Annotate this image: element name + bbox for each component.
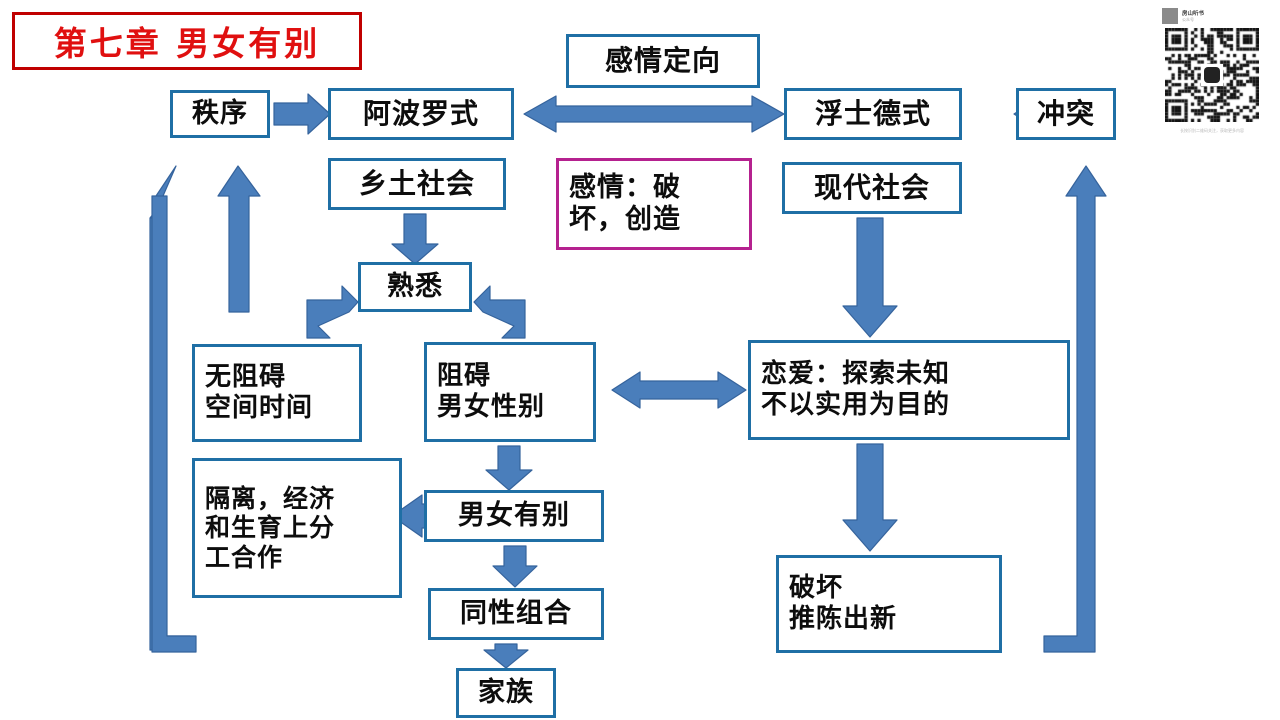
arrow-xiangtushehui-to-shuxi — [392, 214, 438, 264]
watermark-account-name: 房山听书 — [1182, 9, 1204, 17]
arrow-wuzuai-up — [218, 166, 260, 312]
node-nannv-youbie[interactable]: 男女有别 — [424, 490, 604, 542]
node-geli[interactable]: 隔离，经济 和生育上分 工合作 — [192, 458, 402, 598]
node-xiangtu-shehui[interactable]: 乡土社会 — [328, 158, 506, 210]
diagram-canvas: 第七章 男女有别 — [0, 0, 1280, 720]
node-zuai[interactable]: 阻碍 男女性别 — [424, 342, 596, 442]
arrow-zuai-to-nannvyoubie — [486, 446, 532, 490]
arrow-tongxingzuhe-to-jiazu — [484, 644, 528, 668]
arrow-zuai-to-lianai — [612, 372, 746, 408]
avatar — [1162, 8, 1178, 24]
watermark-account-sub: 公众号 — [1182, 17, 1204, 23]
arrow-nannvyoubie-to-tongxingzuhe — [493, 546, 537, 587]
node-zhixu[interactable]: 秩序 — [170, 90, 270, 138]
arrow-geli-loop-up — [150, 202, 190, 650]
arrow-shuxi-to-wuzuai — [307, 286, 358, 338]
node-xiandai-shehui[interactable]: 现代社会 — [782, 162, 962, 214]
arrow-xiandaishehui-to-lianai — [843, 218, 897, 337]
page-title: 第七章 男女有别 — [12, 12, 362, 70]
watermark-header: 房山听书 公众号 — [1152, 4, 1272, 26]
node-wuzuai[interactable]: 无阻碍 空间时间 — [192, 344, 362, 442]
node-chongtu[interactable]: 冲突 — [1016, 88, 1116, 140]
node-ganqing[interactable]: 感情：破 坏，创造 — [556, 158, 752, 250]
arrow-zhixu-to-apoluoshi — [274, 94, 330, 134]
node-shuxi[interactable]: 熟悉 — [358, 262, 472, 312]
node-ganqing-dingxiang[interactable]: 感情定向 — [566, 34, 760, 88]
node-apoluoshi[interactable]: 阿波罗式 — [328, 88, 514, 140]
node-pohuai[interactable]: 破坏 推陈出新 — [776, 555, 1002, 653]
watermark-caption: 长按识别二维码关注，获取更多内容 — [1152, 128, 1272, 134]
arrow-geli-loop-up-shape — [152, 166, 196, 652]
qr-code — [1165, 28, 1259, 122]
node-fushide-shi[interactable]: 浮士德式 — [784, 88, 962, 140]
arrow-apoluoshi-to-fushidshi — [524, 96, 784, 132]
wechat-logo-icon — [1201, 64, 1223, 86]
wechat-watermark-card: 房山听书 公众号 长按识别二维码关注，获取更多内容 — [1152, 4, 1272, 156]
arrow-lianai-to-pohuai — [843, 444, 897, 551]
node-jiazu[interactable]: 家族 — [456, 668, 556, 718]
node-tongxing-zuhe[interactable]: 同性组合 — [428, 588, 604, 640]
node-lianai[interactable]: 恋爱：探索未知 不以实用为目的 — [748, 340, 1070, 440]
arrow-shuxi-to-zuai — [474, 286, 525, 338]
